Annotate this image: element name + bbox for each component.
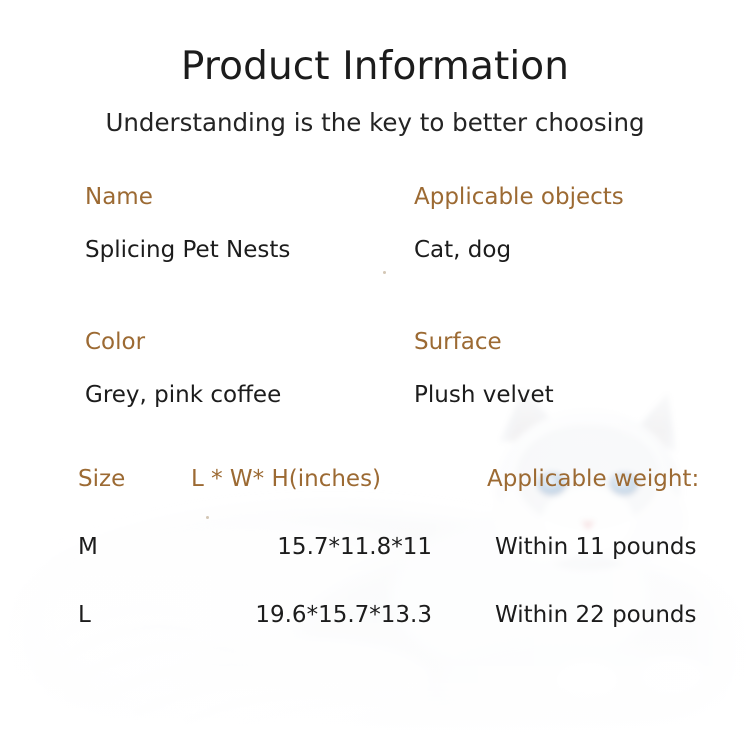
spec-name-value: Splicing Pet Nests [85, 237, 290, 263]
spec-applicable-objects: Applicable objects Cat, dog [414, 184, 624, 264]
spec-color: Color Grey, pink coffee [85, 329, 281, 409]
spec-surface-value: Plush velvet [414, 382, 554, 408]
size-cell: M [78, 534, 98, 560]
weight-cell: Within 22 pounds [495, 602, 697, 628]
size-cell: L [78, 602, 91, 628]
product-information-page: Product Information Understanding is the… [0, 0, 750, 750]
size-table: Size L * W* H(inches) Applicable weight:… [0, 466, 750, 670]
spec-color-value: Grey, pink coffee [85, 382, 281, 408]
table-row: M 15.7*11.8*11 Within 11 pounds [0, 534, 750, 602]
spec-surface: Surface Plush velvet [414, 329, 554, 409]
spec-name: Name Splicing Pet Nests [85, 184, 290, 264]
spec-applicable-objects-value: Cat, dog [414, 237, 624, 263]
weight-column-header: Applicable weight: [487, 466, 699, 492]
size-table-header-row: Size L * W* H(inches) Applicable weight: [0, 466, 750, 534]
dimensions-column-header: L * W* H(inches) [140, 466, 432, 492]
page-title: Product Information [0, 46, 750, 89]
spec-surface-label: Surface [414, 329, 554, 355]
dimensions-cell: 15.7*11.8*11 [140, 534, 432, 560]
weight-cell: Within 11 pounds [495, 534, 697, 560]
spec-applicable-objects-label: Applicable objects [414, 184, 624, 210]
page-subtitle: Understanding is the key to better choos… [0, 110, 750, 137]
dimensions-cell: 19.6*15.7*13.3 [140, 602, 432, 628]
spec-color-label: Color [85, 329, 281, 355]
table-row: L 19.6*15.7*13.3 Within 22 pounds [0, 602, 750, 670]
size-column-header: Size [78, 466, 125, 492]
spec-name-label: Name [85, 184, 290, 210]
scan-artifact-speck [383, 271, 386, 274]
